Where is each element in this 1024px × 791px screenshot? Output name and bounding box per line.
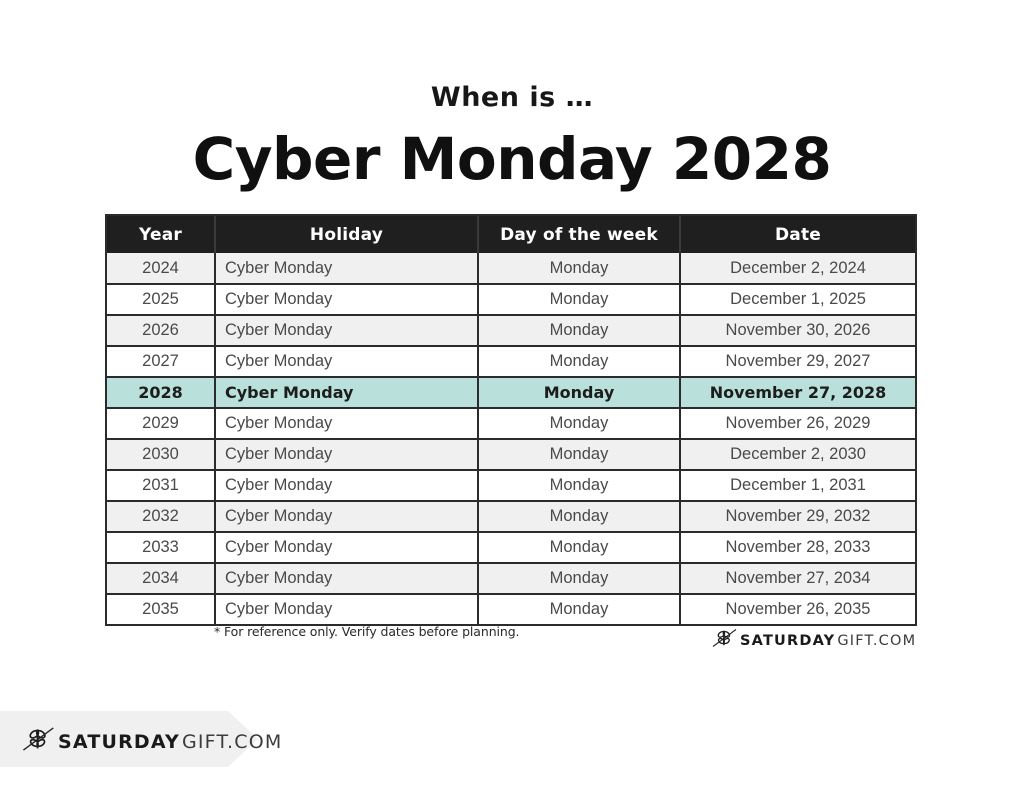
cell-holiday: Cyber Monday: [215, 470, 478, 501]
cell-day-of-week: Monday: [478, 346, 680, 377]
cell-day-of-week: Monday: [478, 470, 680, 501]
cell-day-of-week: Monday: [478, 377, 680, 408]
holiday-table-container: Year Holiday Day of the week Date 2024Cy…: [107, 216, 915, 626]
cell-date: December 1, 2025: [680, 284, 915, 315]
table-row: 2027Cyber MondayMondayNovember 29, 2027: [107, 346, 915, 377]
logo-word-saturday: SATURDAY: [740, 633, 835, 649]
column-header-date: Date: [680, 216, 915, 253]
cell-day-of-week: Monday: [478, 253, 680, 284]
saturdaygift-dragonfly-icon: [712, 628, 738, 653]
footnote-disclaimer: * For reference only. Verify dates befor…: [214, 624, 519, 639]
cell-year: 2026: [107, 315, 215, 346]
cell-holiday: Cyber Monday: [215, 501, 478, 532]
title-block: When is … Cyber Monday 2028: [0, 84, 1024, 190]
saturdaygift-dragonfly-icon: [22, 726, 56, 757]
cell-year: 2025: [107, 284, 215, 315]
cell-day-of-week: Monday: [478, 408, 680, 439]
cell-year: 2033: [107, 532, 215, 563]
cell-year: 2030: [107, 439, 215, 470]
cell-day-of-week: Monday: [478, 439, 680, 470]
cell-date: November 28, 2033: [680, 532, 915, 563]
cell-date: November 30, 2026: [680, 315, 915, 346]
column-header-year: Year: [107, 216, 215, 253]
cell-day-of-week: Monday: [478, 315, 680, 346]
logo-word-giftcom: GIFT.COM: [837, 633, 916, 649]
table-row: 2028Cyber MondayMondayNovember 27, 2028: [107, 377, 915, 408]
cell-holiday: Cyber Monday: [215, 594, 478, 625]
table-body: 2024Cyber MondayMondayDecember 2, 202420…: [107, 253, 915, 625]
table-row: 2032Cyber MondayMondayNovember 29, 2032: [107, 501, 915, 532]
column-header-day-of-week: Day of the week: [478, 216, 680, 253]
cell-holiday: Cyber Monday: [215, 377, 478, 408]
cell-holiday: Cyber Monday: [215, 563, 478, 594]
table-row: 2033Cyber MondayMondayNovember 28, 2033: [107, 532, 915, 563]
table-row: 2030Cyber MondayMondayDecember 2, 2030: [107, 439, 915, 470]
table-header: Year Holiday Day of the week Date: [107, 216, 915, 253]
cell-date: November 29, 2032: [680, 501, 915, 532]
cell-date: November 29, 2027: [680, 346, 915, 377]
table-header-row: Year Holiday Day of the week Date: [107, 216, 915, 253]
cell-holiday: Cyber Monday: [215, 346, 478, 377]
cell-date: December 1, 2031: [680, 470, 915, 501]
table-row: 2024Cyber MondayMondayDecember 2, 2024: [107, 253, 915, 284]
table-row: 2035Cyber MondayMondayNovember 26, 2035: [107, 594, 915, 625]
cell-holiday: Cyber Monday: [215, 439, 478, 470]
page-kicker: When is …: [0, 84, 1024, 111]
cell-date: November 27, 2034: [680, 563, 915, 594]
table-row: 2025Cyber MondayMondayDecember 1, 2025: [107, 284, 915, 315]
cell-day-of-week: Monday: [478, 532, 680, 563]
cell-date: December 2, 2030: [680, 439, 915, 470]
cell-holiday: Cyber Monday: [215, 253, 478, 284]
table-row: 2031Cyber MondayMondayDecember 1, 2031: [107, 470, 915, 501]
cell-date: November 27, 2028: [680, 377, 915, 408]
cell-day-of-week: Monday: [478, 594, 680, 625]
cell-year: 2028: [107, 377, 215, 408]
column-header-holiday: Holiday: [215, 216, 478, 253]
cell-holiday: Cyber Monday: [215, 315, 478, 346]
table-row: 2026Cyber MondayMondayNovember 30, 2026: [107, 315, 915, 346]
printable-page: When is … Cyber Monday 2028 Year Holiday…: [0, 0, 1024, 791]
cell-year: 2035: [107, 594, 215, 625]
cell-year: 2032: [107, 501, 215, 532]
cell-year: 2031: [107, 470, 215, 501]
logo-word-saturday: SATURDAY: [58, 731, 180, 753]
cell-holiday: Cyber Monday: [215, 532, 478, 563]
cell-year: 2024: [107, 253, 215, 284]
table-row: 2034Cyber MondayMondayNovember 27, 2034: [107, 563, 915, 594]
cell-day-of-week: Monday: [478, 501, 680, 532]
saturdaygift-logo-table[interactable]: SATURDAY GIFT.COM: [712, 628, 916, 653]
cell-day-of-week: Monday: [478, 284, 680, 315]
cell-holiday: Cyber Monday: [215, 284, 478, 315]
cell-date: November 26, 2029: [680, 408, 915, 439]
cell-holiday: Cyber Monday: [215, 408, 478, 439]
page-title: Cyber Monday 2028: [0, 129, 1024, 190]
cell-year: 2027: [107, 346, 215, 377]
cell-year: 2034: [107, 563, 215, 594]
cell-day-of-week: Monday: [478, 563, 680, 594]
table-row: 2029Cyber MondayMondayNovember 26, 2029: [107, 408, 915, 439]
logo-word-giftcom: GIFT.COM: [182, 731, 283, 753]
cell-year: 2029: [107, 408, 215, 439]
cell-date: November 26, 2035: [680, 594, 915, 625]
saturdaygift-logo-footer[interactable]: SATURDAY GIFT.COM: [22, 726, 282, 757]
cell-date: December 2, 2024: [680, 253, 915, 284]
holiday-table: Year Holiday Day of the week Date 2024Cy…: [107, 216, 915, 626]
